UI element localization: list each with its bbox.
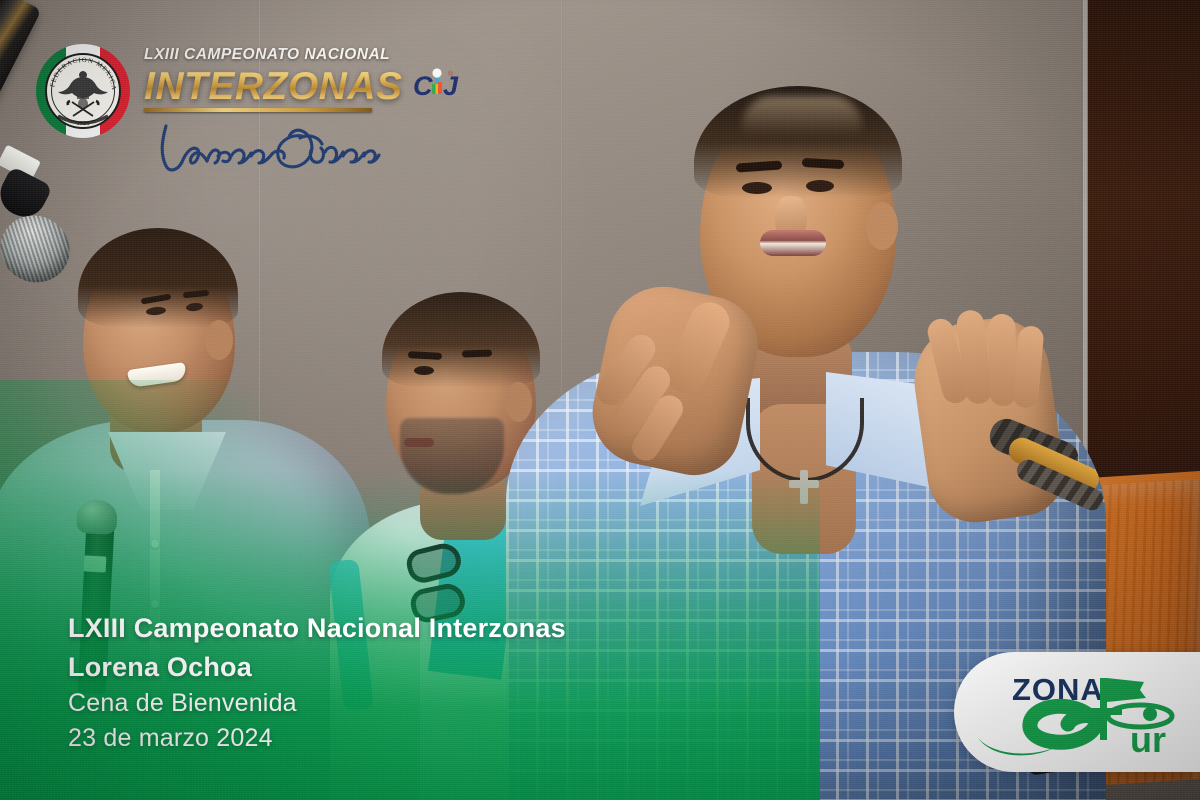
shirt-button xyxy=(151,540,159,548)
federacion-mexicana-de-golf-seal: FEDERACION MEXICANA DE GOLF 1926 xyxy=(36,44,130,138)
seal-artwork: FEDERACION MEXICANA DE GOLF 1926 xyxy=(36,44,130,138)
cij-bar-green xyxy=(432,84,436,94)
speaker-eye xyxy=(806,180,834,192)
speaker-mouth xyxy=(760,230,826,256)
cij-superscript: ® xyxy=(448,70,454,78)
interzonas-wordmark: INTERZONAS xyxy=(144,67,403,107)
lorena-ochoa-signature xyxy=(152,118,459,183)
finger xyxy=(988,314,1017,406)
man-left-ear xyxy=(205,320,233,360)
header-logo-lockup: FEDERACION MEXICANA DE GOLF 1926 xyxy=(36,44,459,183)
shirt-button xyxy=(151,600,159,608)
caption-title-line1: LXIII Campeonato Nacional Interzonas xyxy=(68,609,728,647)
speaker-ear xyxy=(866,202,898,250)
caption-block: LXIII Campeonato Nacional Interzonas Lor… xyxy=(68,609,728,756)
man-middle-eyebrow xyxy=(462,349,492,357)
man-middle-mouth xyxy=(404,438,434,447)
caption-title-line2: Lorena Ochoa xyxy=(68,648,728,686)
cross-pendant xyxy=(789,480,819,488)
sunglass-lens xyxy=(404,540,465,586)
golf-ball-icon xyxy=(432,68,441,77)
zona-sur-logo: ZONA ur xyxy=(954,652,1200,772)
caption-subtitle: Cena de Bienvenida xyxy=(68,686,728,721)
speaker-eye xyxy=(742,182,772,194)
event-title-block: LXIII CAMPEONATO NACIONAL INTERZONAS C J xyxy=(144,44,459,183)
eagle-icon xyxy=(58,71,108,109)
zona-sur-letters-ur: ur xyxy=(1130,719,1166,760)
event-photo: FEDERACION MEXICANA DE GOLF 1926 xyxy=(0,0,1200,800)
microphone-secondary-band xyxy=(84,555,107,572)
gold-underline-rule xyxy=(144,108,372,112)
cij-letter-c: C xyxy=(413,71,433,101)
cij-logo: C J ® xyxy=(413,62,459,108)
speaker-hair-highlight xyxy=(742,96,862,136)
man-middle-ear xyxy=(505,382,532,422)
caption-date: 23 de marzo 2024 xyxy=(68,721,728,756)
man-middle-eye xyxy=(414,366,434,375)
cij-bar-orange xyxy=(438,82,442,94)
